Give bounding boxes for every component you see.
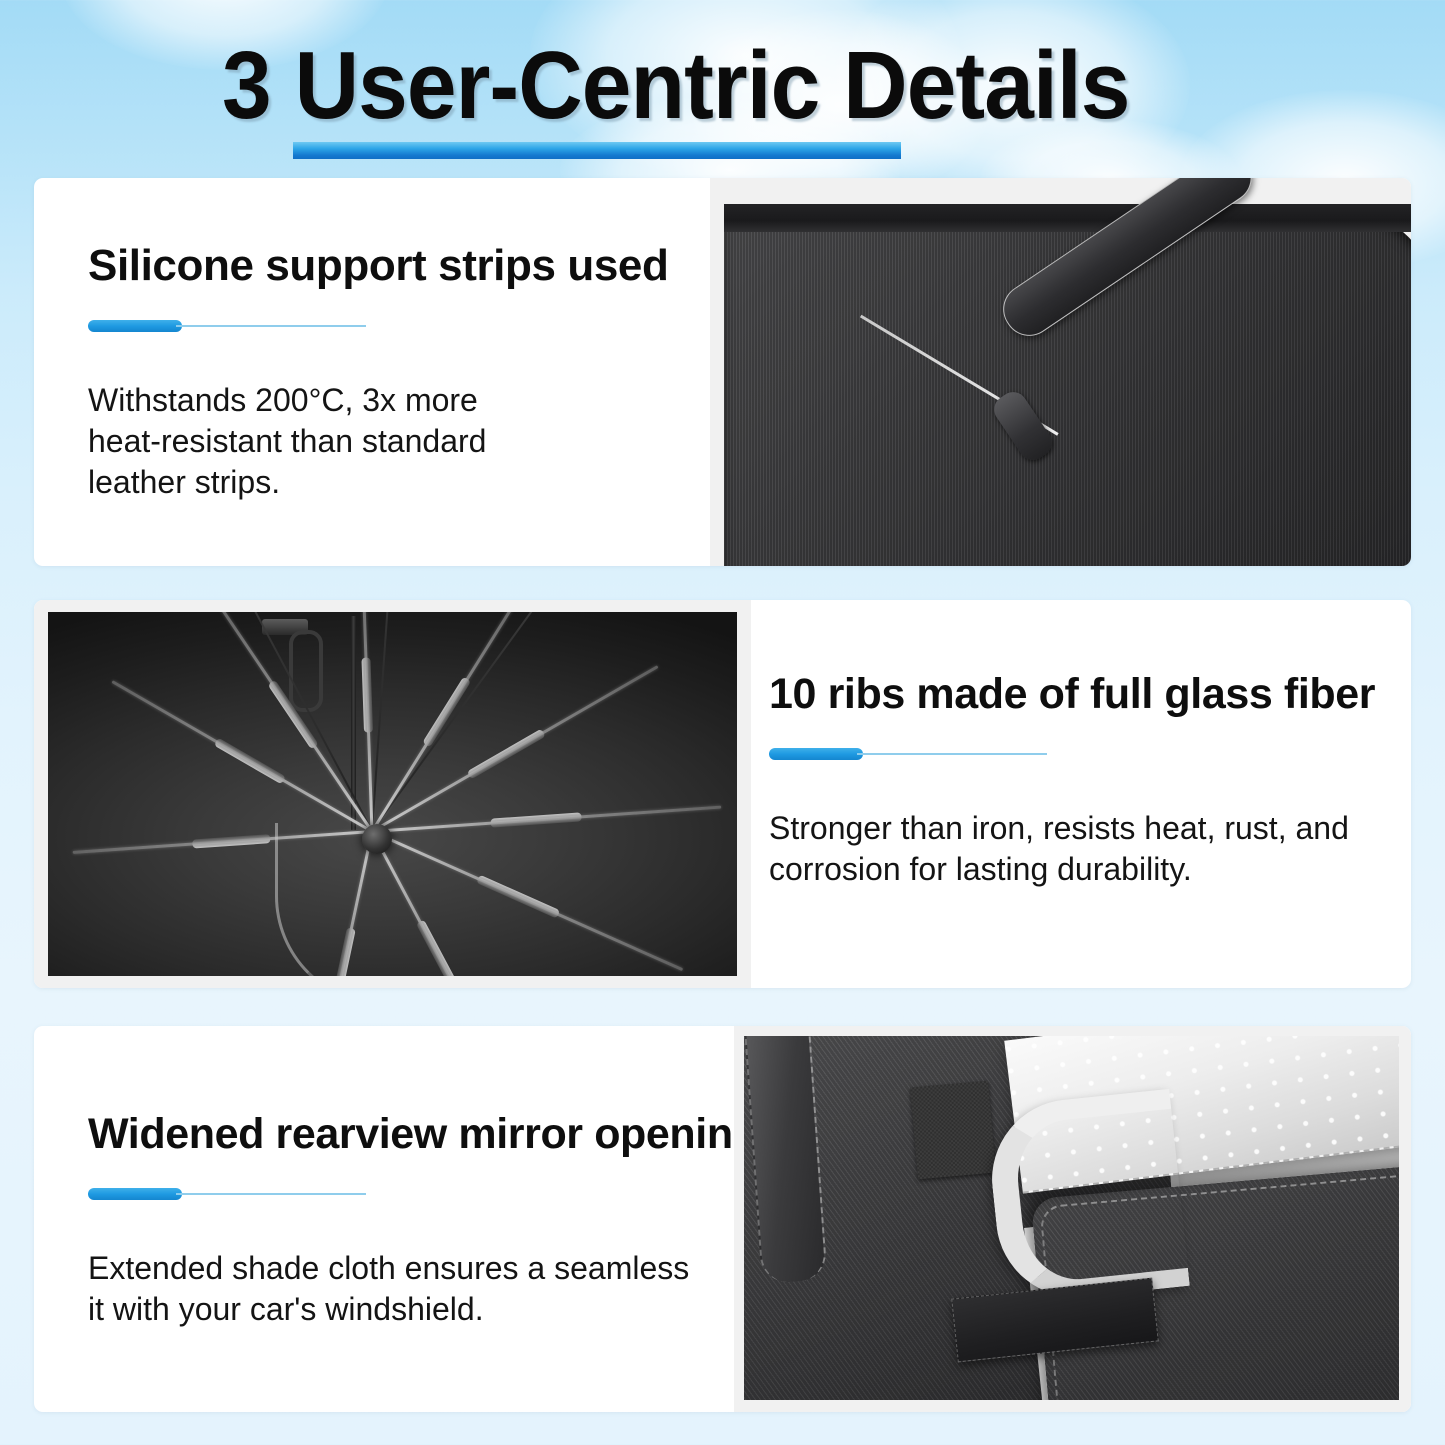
feature-photo-mirror-opening: [734, 1026, 1411, 1412]
divider-thick-segment: [88, 1188, 182, 1200]
umbrella-clip-loop: [289, 630, 323, 712]
feature-body-text: Extended shade cloth ensures a seamless …: [88, 1248, 708, 1330]
divider-thin-segment: [857, 753, 1047, 755]
feature-card-glass-fiber-ribs: 10 ribs made of full glass fiber Stronge…: [34, 600, 1411, 988]
page-title: 3 User-Centric Details: [222, 34, 1129, 138]
umbrella-spoke: [371, 612, 567, 832]
page-header: 3 User-Centric Details: [0, 34, 1445, 152]
umbrella-hub: [362, 824, 392, 854]
feature-card-mirror-opening: Widened rearview mirror opening Extended…: [34, 1026, 1411, 1412]
feature-body-text: Stronger than iron, resists heat, rust, …: [769, 808, 1357, 890]
feature-text-pane: Widened rearview mirror opening Extended…: [34, 1026, 734, 1412]
sunshade-mat-rim: [724, 204, 1411, 232]
feature-body-text: Withstands 200°C, 3x more heat-resistant…: [88, 380, 558, 503]
velcro-patch: [910, 1081, 996, 1179]
feature-heading: 10 ribs made of full glass fiber: [769, 668, 1357, 720]
feature-card-silicone-strips: Silicone support strips used Withstands …: [34, 178, 1411, 566]
photo-frame: [34, 600, 751, 988]
title-underline-bar: [293, 142, 901, 159]
heading-divider: [88, 1188, 366, 1200]
divider-thin-segment: [176, 325, 366, 327]
glass-fiber-rib: [371, 831, 683, 972]
feature-photo-umbrella-ribs: [34, 600, 751, 988]
glass-fiber-rib: [372, 806, 721, 833]
divider-thick-segment: [769, 748, 863, 760]
feature-text-pane: 10 ribs made of full glass fiber Stronge…: [751, 600, 1411, 988]
heading-divider: [769, 748, 1047, 760]
glass-fiber-rib: [203, 612, 373, 833]
feature-text-pane: Silicone support strips used Withstands …: [34, 178, 710, 566]
feature-photo-silicone-strip: [710, 178, 1411, 566]
photo-frame: [710, 178, 1411, 566]
divider-thick-segment: [88, 320, 182, 332]
feature-heading: Silicone support strips used: [88, 240, 710, 292]
feature-heading: Widened rearview mirror opening: [88, 1108, 734, 1160]
glass-fiber-rib: [360, 612, 373, 832]
glass-fiber-rib: [371, 666, 658, 834]
heading-divider: [88, 320, 366, 332]
divider-thin-segment: [176, 1193, 366, 1195]
umbrella-canopy-interior: [48, 612, 737, 976]
photo-frame: [734, 1026, 1411, 1412]
sunshade-panels-scene: [744, 1036, 1399, 1400]
